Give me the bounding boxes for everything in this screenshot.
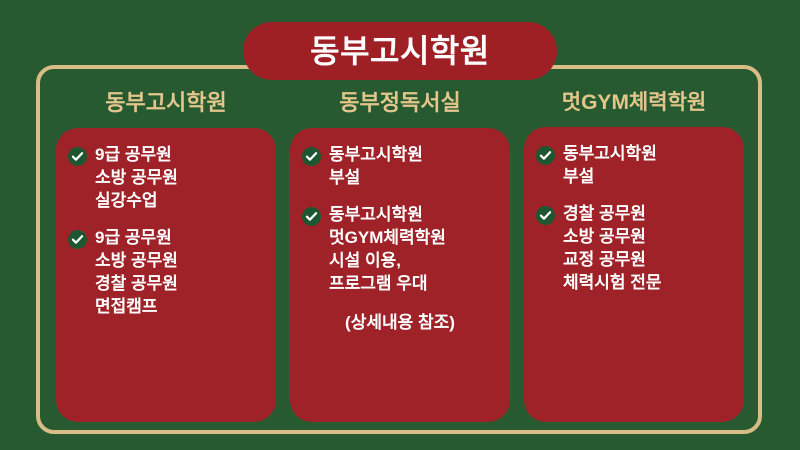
check-circle-icon <box>302 147 321 166</box>
list-item-line: 소방 공무원 <box>95 167 178 190</box>
list-item-text: 경찰 공무원 소방 공무원 교정 공무원 체력시험 전문 <box>563 203 662 295</box>
column-1: 동부고시학원 9급 공무원 소방 공무원 실강수업 <box>56 92 276 422</box>
column-3: 멋GYM체력학원 동부고시학원 부설 경찰 공무원 <box>524 92 744 422</box>
column-2-header: 동부정독서실 <box>339 92 460 114</box>
list-item-line: 동부고시학원 <box>563 143 657 166</box>
check-circle-icon <box>302 207 321 226</box>
list-item: 9급 공무원 소방 공무원 경찰 공무원 면접캠프 <box>68 227 268 319</box>
column-2: 동부정독서실 동부고시학원 부설 동부고시학원 멋 <box>290 92 510 422</box>
list-item-line: 동부고시학원 <box>329 204 446 227</box>
list-item-text: 동부고시학원 부설 <box>563 143 657 189</box>
list-item: 9급 공무원 소방 공무원 실강수업 <box>68 144 268 213</box>
check-circle-icon <box>536 206 555 225</box>
list-item-line: 경찰 공무원 <box>95 273 178 296</box>
list-item-line: 동부고시학원 <box>329 144 423 167</box>
check-circle-icon <box>68 147 87 166</box>
list-item-text: 9급 공무원 소방 공무원 경찰 공무원 면접캠프 <box>95 227 178 319</box>
list-item: 경찰 공무원 소방 공무원 교정 공무원 체력시험 전문 <box>536 203 736 295</box>
list-item-line: 면접캠프 <box>95 296 178 319</box>
list-item-text: 동부고시학원 부설 <box>329 144 423 190</box>
page-title: 동부고시학원 <box>310 35 490 67</box>
list-item-line: 실강수업 <box>95 190 178 213</box>
list-item-line: 멋GYM체력학원 <box>329 227 446 250</box>
list-item-line: 체력시험 전문 <box>563 272 662 295</box>
list-item-line: 소방 공무원 <box>95 250 178 273</box>
list-item-line: 프로그램 우대 <box>329 273 446 296</box>
list-item: 동부고시학원 멋GYM체력학원 시설 이용, 프로그램 우대 <box>302 204 502 296</box>
list-item-text: 동부고시학원 멋GYM체력학원 시설 이용, 프로그램 우대 <box>329 204 446 296</box>
column-1-card: 9급 공무원 소방 공무원 실강수업 9급 공무원 소방 공무원 경찰 공무원 … <box>56 128 276 422</box>
column-2-card: 동부고시학원 부설 동부고시학원 멋GYM체력학원 시설 이용, 프로그램 우대… <box>290 128 510 422</box>
column-3-header: 멋GYM체력학원 <box>562 92 706 113</box>
list-item-line: 9급 공무원 <box>95 144 178 167</box>
columns-container: 동부고시학원 9급 공무원 소방 공무원 실강수업 <box>56 92 744 422</box>
list-item-line: 부설 <box>563 166 657 189</box>
list-item-line: 9급 공무원 <box>95 227 178 250</box>
list-item-line: 교정 공무원 <box>563 249 662 272</box>
column-1-header: 동부고시학원 <box>105 92 226 114</box>
list-item-line: 경찰 공무원 <box>563 203 662 226</box>
list-item: 동부고시학원 부설 <box>536 143 736 189</box>
list-item: 동부고시학원 부설 <box>302 144 502 190</box>
poster-title-banner: 동부고시학원 <box>243 22 557 80</box>
check-circle-icon <box>536 146 555 165</box>
list-item-line: 소방 공무원 <box>563 226 662 249</box>
column-3-card: 동부고시학원 부설 경찰 공무원 소방 공무원 교정 공무원 체력시험 전문 <box>524 127 744 422</box>
list-item-line: 부설 <box>329 167 423 190</box>
column-2-note: (상세내용 참조) <box>302 312 502 334</box>
list-item-line: 시설 이용, <box>329 250 446 273</box>
check-circle-icon <box>68 230 87 249</box>
list-item-text: 9급 공무원 소방 공무원 실강수업 <box>95 144 178 213</box>
